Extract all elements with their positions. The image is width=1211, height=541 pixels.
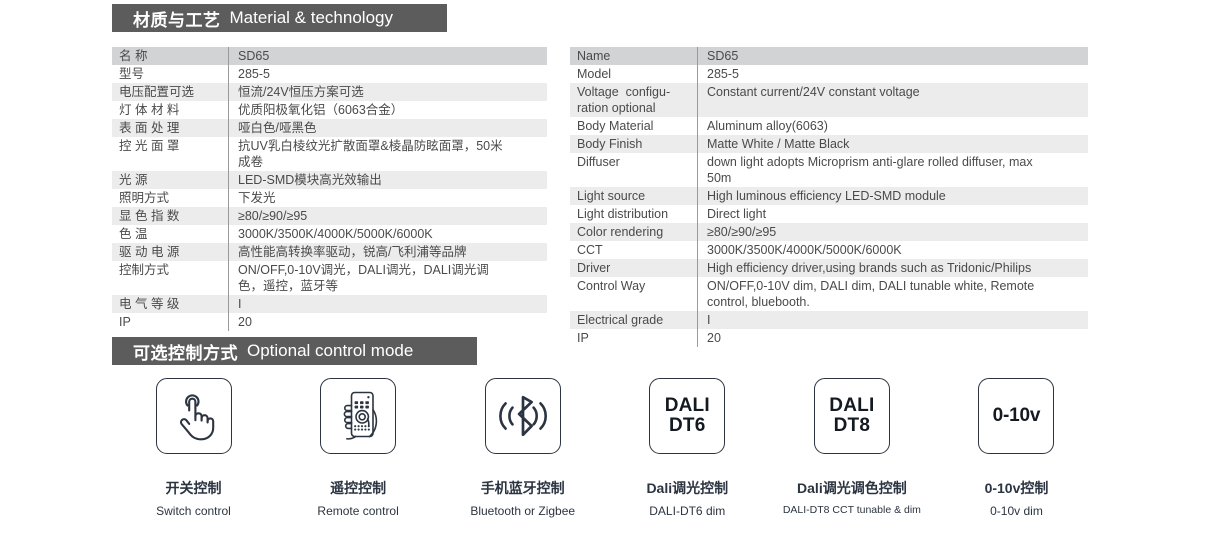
spec-label: Diffuser (570, 153, 697, 171)
table-row: 控 光 面 罩抗UV乳白棱纹光扩散面罩&棱晶防眩面罩，50米 成卷 (112, 137, 547, 171)
spec-label: 电压配置可选 (112, 83, 228, 101)
spec-value: High luminous efficiency LED-SMD module (698, 187, 1088, 205)
spec-value: I (229, 295, 547, 313)
spec-label: Name (570, 47, 697, 65)
spec-value: 优质阳极氧化铝（6063合金） (229, 101, 547, 119)
control-mode-label-cn: 0-10v控制 (985, 478, 1049, 498)
touch-hand-icon-box[interactable] (156, 378, 232, 454)
table-row: DriverHigh efficiency driver,using brand… (570, 259, 1088, 277)
table-row: 名 称SD65 (112, 47, 547, 65)
table-row: Color rendering≥80/≥90/≥95 (570, 223, 1088, 241)
spec-value: SD65 (698, 47, 1088, 65)
table-row: Body MaterialAluminum alloy(6063) (570, 117, 1088, 135)
spec-value: Constant current/24V constant voltage (698, 83, 1088, 101)
spec-value: ON/OFF,0-10V调光，DALI调光，DALI调光调 色，遥控，蓝牙等 (229, 261, 547, 295)
spec-label: 表 面 处 理 (112, 119, 228, 137)
control-mode-label-cn: 开关控制 (166, 478, 222, 498)
spec-label: 灯 体 材 料 (112, 101, 228, 119)
table-row: Electrical gradeI (570, 311, 1088, 329)
remote-control-icon-box[interactable] (320, 378, 396, 454)
spec-label: 光 源 (112, 171, 228, 189)
control-mode-item[interactable]: 开关控制Switch control (112, 378, 275, 518)
table-row: IP20 (112, 313, 547, 331)
dali-dt8-icon: DALIDT8 (829, 396, 874, 436)
table-row: 驱 动 电 源高性能高转换率驱动，锐高/飞利浦等品牌 (112, 243, 547, 261)
table-row: Control WayON/OFF,0-10V dim, DALI dim, D… (570, 277, 1088, 311)
spec-label: 色 温 (112, 225, 228, 243)
control-mode-label-cn: 手机蓝牙控制 (481, 478, 565, 498)
table-row: Diffuserdown light adopts Microprism ant… (570, 153, 1088, 187)
spec-value: I (698, 311, 1088, 329)
table-row: 电压配置可选恒流/24V恒压方案可选 (112, 83, 547, 101)
spec-table-english: NameSD65Model285-5Voltage configu- ratio… (570, 47, 1088, 347)
spec-label: IP (570, 329, 697, 347)
spec-label: 驱 动 电 源 (112, 243, 228, 261)
spec-value: down light adopts Microprism anti-glare … (698, 153, 1088, 187)
spec-value: 3000K/3500K/4000K/5000K/6000K (229, 225, 547, 243)
icon-glyph-line-1: 0-10v (993, 406, 1041, 426)
table-row: CCT3000K/3500K/4000K/5000K/6000K (570, 241, 1088, 259)
section-header-control-cn: 可选控制方式 (133, 339, 238, 364)
control-mode-item[interactable]: 0-10v0-10v控制0-10v dim (935, 378, 1098, 518)
control-mode-grid: 开关控制Switch control (112, 378, 1098, 530)
table-row: Light distributionDirect light (570, 205, 1088, 223)
spec-value: 恒流/24V恒压方案可选 (229, 83, 547, 101)
table-row: 型号285-5 (112, 65, 547, 83)
spec-label: Voltage configu- ration optional (570, 83, 697, 117)
icon-glyph-line-2: DT8 (829, 416, 874, 436)
table-row: Light sourceHigh luminous efficiency LED… (570, 187, 1088, 205)
spec-label: IP (112, 313, 228, 331)
spec-label: 电 气 等 级 (112, 295, 228, 313)
control-mode-item[interactable]: 遥控控制Remote control (277, 378, 440, 518)
spec-value: 285-5 (229, 65, 547, 83)
control-mode-item[interactable]: DALIDT8Dali调光调色控制DALI-DT8 CCT tunable & … (770, 378, 933, 516)
spec-label: Body Finish (570, 135, 697, 153)
dali-dt8-icon-box[interactable]: DALIDT8 (814, 378, 890, 454)
spec-label: Color rendering (570, 223, 697, 241)
spec-label: 控 光 面 罩 (112, 137, 228, 155)
dali-dt6-icon-box[interactable]: DALIDT6 (649, 378, 725, 454)
table-row: 灯 体 材 料优质阳极氧化铝（6063合金） (112, 101, 547, 119)
spec-label: Model (570, 65, 697, 83)
remote-control-icon (332, 389, 384, 443)
spec-value: Matte White / Matte Black (698, 135, 1088, 153)
bluetooth-wireless-icon-box[interactable] (485, 378, 561, 454)
spec-label: CCT (570, 241, 697, 259)
zero-to-ten-volt-icon-box[interactable]: 0-10v (978, 378, 1054, 454)
spec-label: 控制方式 (112, 261, 228, 279)
spec-table-chinese: 名 称SD65型号285-5电压配置可选恒流/24V恒压方案可选灯 体 材 料优… (112, 47, 547, 331)
control-mode-label-cn: Dali调光调色控制 (797, 478, 907, 498)
spec-label: 名 称 (112, 47, 228, 65)
spec-value: 抗UV乳白棱纹光扩散面罩&棱晶防眩面罩，50米 成卷 (229, 137, 547, 171)
icon-glyph-line-1: DALI (665, 396, 710, 416)
control-mode-item[interactable]: DALIDT6Dali调光控制DALI-DT6 dim (606, 378, 769, 518)
table-row: 显 色 指 数≥80/≥90/≥95 (112, 207, 547, 225)
dali-dt6-icon: DALIDT6 (665, 396, 710, 436)
spec-value: 高性能高转换率驱动，锐高/飞利浦等品牌 (229, 243, 547, 261)
section-header-control-en: Optional control mode (247, 341, 413, 361)
table-row: Model285-5 (570, 65, 1088, 83)
icon-glyph-line-2: DT6 (665, 416, 710, 436)
table-row: 控制方式ON/OFF,0-10V调光，DALI调光，DALI调光调 色，遥控，蓝… (112, 261, 547, 295)
spec-value: ON/OFF,0-10V dim, DALI dim, DALI tunable… (698, 277, 1088, 311)
control-mode-label-cn: 遥控控制 (330, 478, 386, 498)
spec-value: SD65 (229, 47, 547, 65)
spec-label: Control Way (570, 277, 697, 295)
spec-label: Light distribution (570, 205, 697, 223)
zero-to-ten-volt-icon: 0-10v (993, 406, 1041, 426)
control-mode-item[interactable]: 手机蓝牙控制Bluetooth or Zigbee (441, 378, 604, 518)
control-mode-label-en: DALI-DT8 CCT tunable & dim (783, 504, 921, 516)
spec-label: Light source (570, 187, 697, 205)
table-row: IP20 (570, 329, 1088, 347)
control-mode-label-en: Bluetooth or Zigbee (470, 504, 575, 518)
spec-label: Electrical grade (570, 311, 697, 329)
control-mode-label-en: Remote control (317, 504, 398, 518)
section-header-control-mode: 可选控制方式 Optional control mode (112, 337, 477, 365)
control-mode-label-en: 0-10v dim (990, 504, 1043, 518)
table-row: Body FinishMatte White / Matte Black (570, 135, 1088, 153)
spec-value: 3000K/3500K/4000K/5000K/6000K (698, 241, 1088, 259)
spec-label: 型号 (112, 65, 228, 83)
table-row: Voltage configu- ration optionalConstant… (570, 83, 1088, 117)
spec-value: 下发光 (229, 189, 547, 207)
control-mode-label-en: Switch control (156, 504, 231, 518)
section-header-material-cn: 材质与工艺 (133, 6, 221, 31)
spec-value: 285-5 (698, 65, 1088, 83)
icon-glyph-line-1: DALI (829, 396, 874, 416)
spec-label: 照明方式 (112, 189, 228, 207)
spec-value: 20 (698, 329, 1088, 347)
table-row: 电 气 等 级I (112, 295, 547, 313)
table-row: 照明方式下发光 (112, 189, 547, 207)
spec-value: 20 (229, 313, 547, 331)
control-mode-label-en: DALI-DT6 dim (649, 504, 725, 518)
table-row: 光 源LED-SMD模块高光效输出 (112, 171, 547, 189)
spec-value: ≥80/≥90/≥95 (698, 223, 1088, 241)
spec-label: Driver (570, 259, 697, 277)
spec-value: ≥80/≥90/≥95 (229, 207, 547, 225)
control-mode-label-cn: Dali调光控制 (646, 478, 728, 498)
spec-label: 显 色 指 数 (112, 207, 228, 225)
spec-value: Direct light (698, 205, 1088, 223)
table-row: 表 面 处 理哑白色/哑黑色 (112, 119, 547, 137)
spec-value: High efficiency driver,using brands such… (698, 259, 1088, 277)
spec-value: 哑白色/哑黑色 (229, 119, 547, 137)
spec-value: Aluminum alloy(6063) (698, 117, 1088, 135)
table-row: 色 温3000K/3500K/4000K/5000K/6000K (112, 225, 547, 243)
spec-label: Body Material (570, 117, 697, 135)
touch-hand-icon (171, 391, 217, 441)
section-header-material-en: Material & technology (230, 8, 393, 28)
spec-value: LED-SMD模块高光效输出 (229, 171, 547, 189)
section-header-material: 材质与工艺 Material & technology (112, 4, 447, 32)
bluetooth-wireless-icon (494, 393, 552, 439)
table-row: NameSD65 (570, 47, 1088, 65)
